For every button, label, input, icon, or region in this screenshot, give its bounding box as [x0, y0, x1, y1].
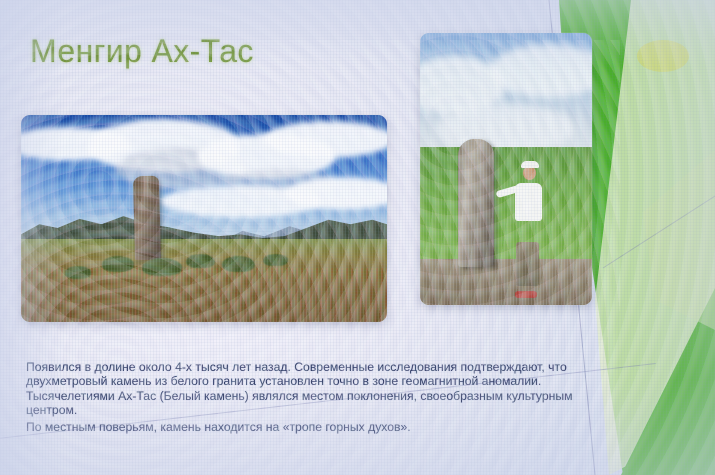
menhir-stone	[458, 139, 494, 267]
photo-content	[21, 115, 387, 322]
green-wedge-light	[595, 0, 715, 475]
grass-bush	[186, 254, 215, 268]
body-line: центром.	[26, 403, 586, 417]
page-title: Менгир Ах-Тас	[30, 33, 254, 70]
person-shoe	[515, 291, 537, 298]
presentation-slide: Менгир Ах-Тас	[0, 0, 715, 475]
dirt-ground	[420, 259, 592, 305]
body-line: Тысячелетиями Ах-Тас (Белый камень) явля…	[26, 389, 586, 403]
green-wedge-sliver	[643, 150, 715, 330]
body-line: По местным поверьям, камень находится на…	[26, 420, 586, 434]
body-line: двухметровый камень из белого гранита ус…	[26, 374, 586, 388]
menhir-with-person-photo	[420, 33, 592, 305]
grass-bush	[142, 258, 182, 277]
person-cap	[521, 161, 539, 168]
person-shirt	[515, 183, 542, 221]
grass-bush	[65, 266, 91, 278]
grass-bush	[222, 256, 255, 273]
menhir-stone	[133, 176, 161, 261]
cloud	[437, 104, 575, 153]
photo-content	[420, 33, 592, 305]
projector-hotspot	[637, 40, 689, 72]
body-line: Появился в долине около 4-х тысяч лет на…	[26, 360, 586, 374]
grass-bush	[263, 254, 289, 266]
green-wedge-bottom	[621, 288, 715, 475]
menhir-valley-photo	[21, 115, 387, 322]
person-pants	[516, 242, 539, 286]
guide-line-diagonal-upper	[603, 196, 715, 268]
body-text: Появился в долине около 4-х тысяч лет на…	[26, 360, 586, 434]
grass-bush	[102, 256, 135, 273]
